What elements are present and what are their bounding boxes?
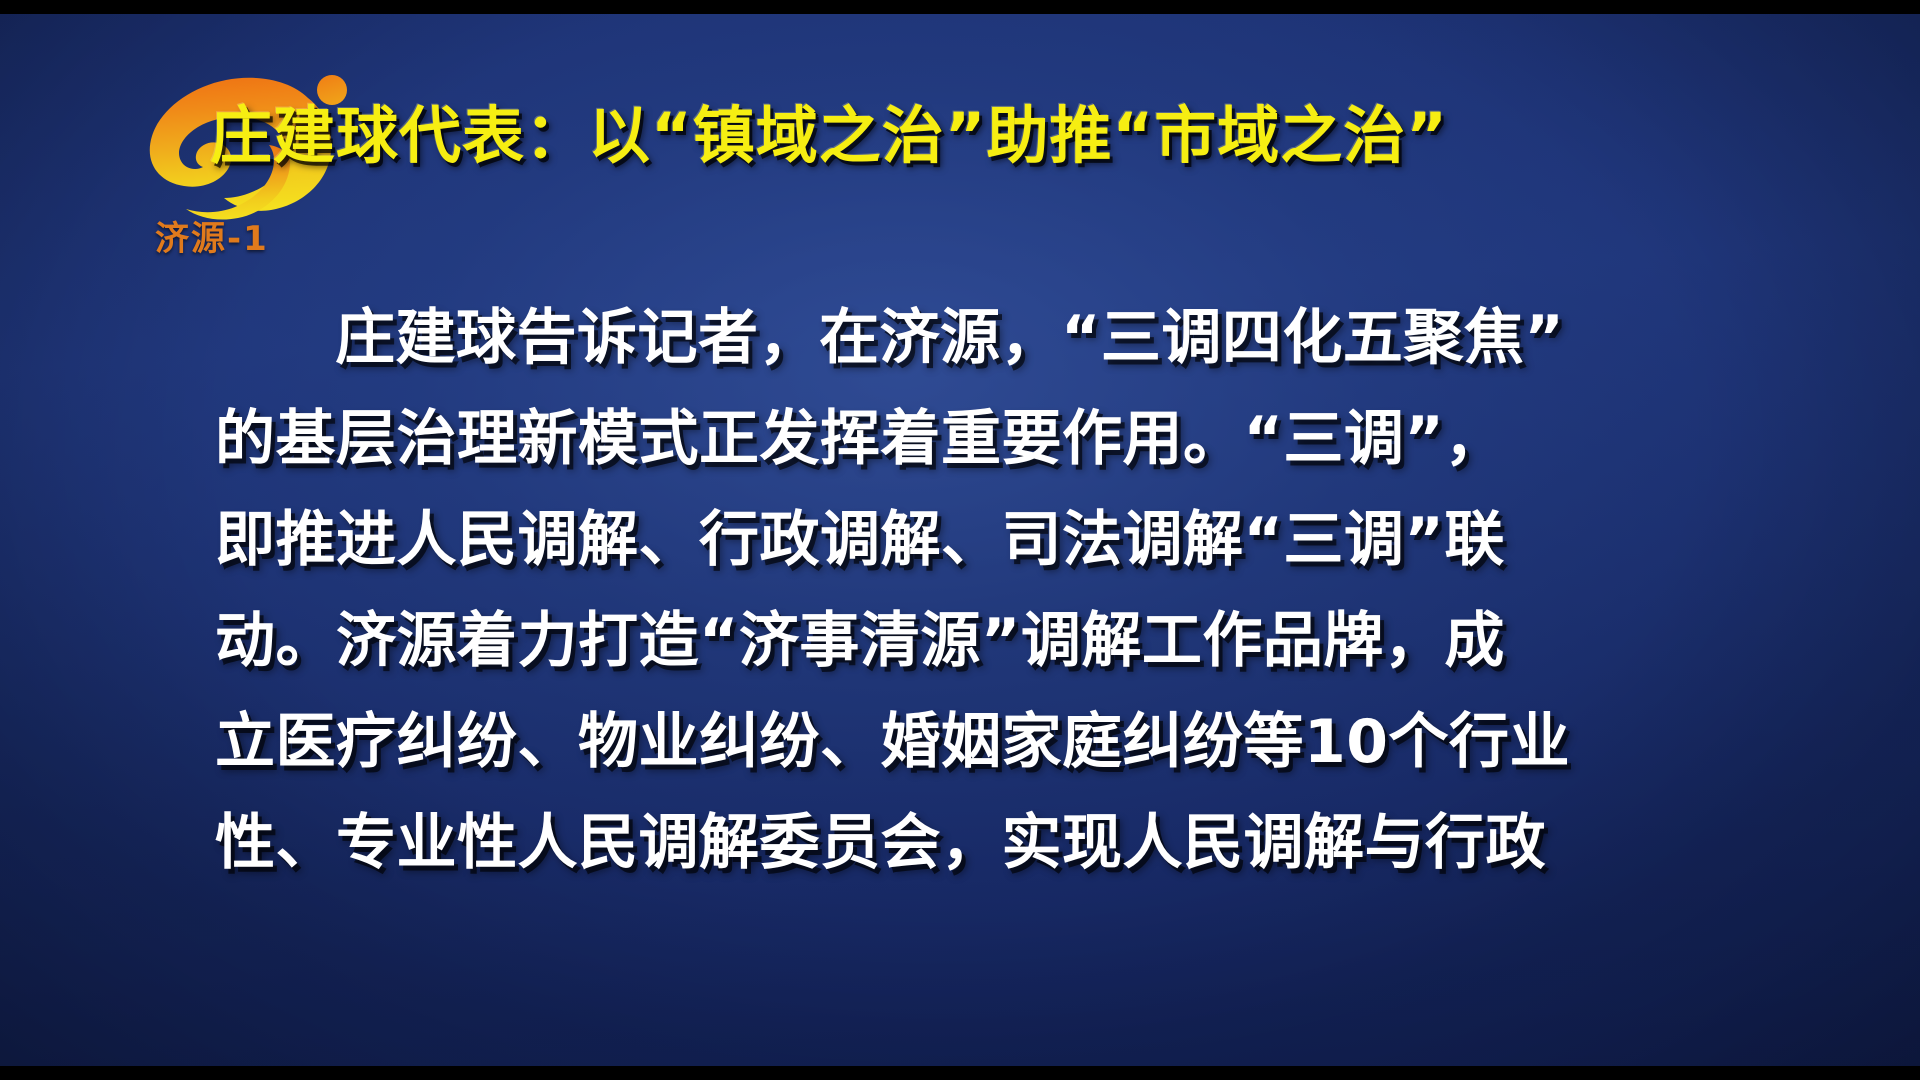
caption-line: 动。济源着力打造“济事清源”调解工作品牌，成: [215, 591, 1735, 692]
caption-block: 庄建球告诉记者，在济源，“三调四化五聚焦” 的基层治理新模式正发挥着重要作用。“…: [215, 288, 1735, 894]
headline-text: 庄建球代表：以“镇域之治”助推“市域之治”: [210, 97, 1448, 175]
caption-line: 庄建球告诉记者，在济源，“三调四化五聚焦”: [215, 288, 1735, 389]
letterbox-bar-bottom: [0, 1066, 1920, 1080]
headline-title: 庄建球代表：以“镇域之治”助推“市域之治”: [210, 96, 1890, 176]
caption-line: 性、专业性人民调解委员会，实现人民调解与行政: [215, 793, 1735, 894]
channel-name-label: 济源-1: [155, 211, 269, 260]
letterbox-bar-top: [0, 0, 1920, 14]
caption-line: 即推进人民调解、行政调解、司法调解“三调”联: [215, 490, 1735, 591]
broadcast-screen: 济源-1 庄建球代表：以“镇域之治”助推“市域之治” 庄建球告诉记者，在济源，“…: [0, 0, 1920, 1080]
caption-line: 立医疗纠纷、物业纠纷、婚姻家庭纠纷等10个行业: [215, 692, 1735, 793]
caption-line: 的基层治理新模式正发挥着重要作用。“三调”，: [215, 389, 1735, 490]
